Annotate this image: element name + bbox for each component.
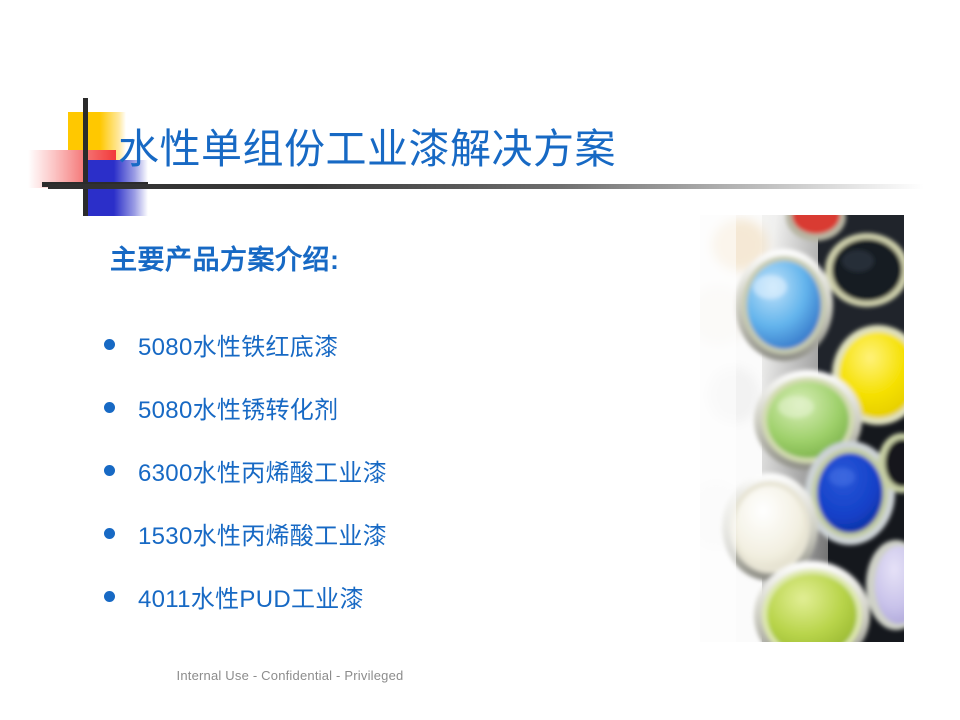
paint-cans-illustration	[700, 215, 904, 642]
slide: 水性单组份工业漆解决方案 主要产品方案介绍: 5080水性铁红底漆 5080水性…	[0, 0, 960, 720]
list-item-label: 5080水性铁红底漆	[138, 327, 338, 362]
bullet-dot-icon	[104, 591, 115, 602]
list-item: 4011水性PUD工业漆	[104, 565, 624, 628]
footer-confidentiality-note: Internal Use - Confidential - Privileged	[0, 668, 580, 683]
content-heading: 主要产品方案介绍:	[110, 238, 340, 277]
product-bullet-list: 5080水性铁红底漆 5080水性锈转化剂 6300水性丙烯酸工业漆 1530水…	[104, 313, 624, 628]
list-item-label: 6300水性丙烯酸工业漆	[138, 453, 387, 488]
page-title: 水性单组份工业漆解决方案	[118, 122, 616, 176]
bullet-dot-icon	[104, 528, 115, 539]
list-item: 6300水性丙烯酸工业漆	[104, 439, 624, 502]
list-item-label: 4011水性PUD工业漆	[138, 579, 364, 614]
list-item: 5080水性锈转化剂	[104, 376, 624, 439]
bullet-dot-icon	[104, 465, 115, 476]
title-divider	[48, 184, 924, 189]
list-item-label: 1530水性丙烯酸工业漆	[138, 516, 387, 551]
list-item: 1530水性丙烯酸工业漆	[104, 502, 624, 565]
bullet-dot-icon	[104, 402, 115, 413]
list-item-label: 5080水性锈转化剂	[138, 390, 338, 425]
paint-cans-photo	[700, 215, 904, 642]
logo-vertical-bar	[83, 98, 88, 216]
bullet-dot-icon	[104, 339, 115, 350]
list-item: 5080水性铁红底漆	[104, 313, 624, 376]
